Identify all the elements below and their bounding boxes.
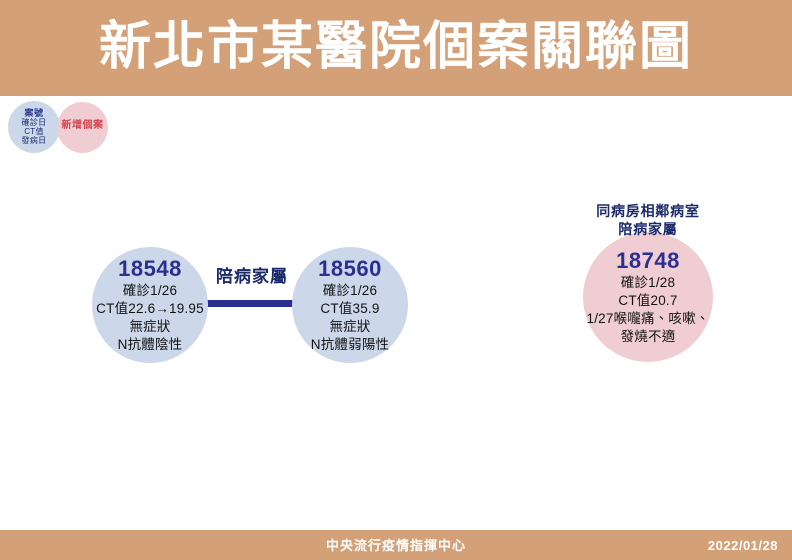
case-node-18548-id: 18548 — [118, 256, 182, 282]
case-node-18548-line-3: 無症狀 — [129, 318, 170, 336]
case-node-18560-line-2: CT值35.9 — [320, 300, 379, 318]
case-node-18548-line-2: CT值22.6→19.95 — [96, 300, 204, 318]
case-node-18748[interactable]: 18748 確診1/28 CT值20.7 1/27喉嚨痛、咳嗽、 發燒不適 — [583, 232, 713, 362]
case-node-18748-caption-line-1: 同病房相鄰病室 — [568, 202, 728, 220]
legend-case-key: 案號 — [8, 108, 60, 118]
case-node-18748-line-2: CT值20.7 — [618, 292, 677, 310]
case-node-18548-line-1: 確診1/26 — [123, 282, 177, 300]
legend: 案號 確診日 CT值 發病日 新增個案 — [8, 101, 118, 155]
infographic-poster: 新北市某醫院個案關聯圖 案號 確診日 CT值 發病日 新增個案 陪病家屬 185… — [0, 0, 792, 560]
case-node-18560-line-3: 無症狀 — [329, 318, 370, 336]
case-node-18748-line-1: 確診1/28 — [621, 274, 675, 292]
case-node-18748-line-4: 發燒不適 — [621, 328, 676, 346]
case-node-18560-id: 18560 — [318, 256, 382, 282]
case-node-18748-id: 18748 — [616, 248, 680, 274]
footer-date: 2022/01/28 — [708, 537, 778, 554]
footer-organization: 中央流行疫情指揮中心 — [0, 537, 792, 554]
edge-18548-18560 — [203, 300, 301, 307]
case-node-18560-line-4: N抗體弱陽性 — [311, 336, 389, 354]
case-node-18748-caption: 同病房相鄰病室 陪病家屬 — [568, 202, 728, 238]
legend-case-line-2: CT值 — [8, 127, 60, 136]
legend-new-case-circle: 新增個案 — [57, 102, 108, 153]
legend-case-line-1: 確診日 — [8, 118, 60, 127]
edge-label-18548-18560: 陪病家屬 — [196, 266, 308, 288]
case-relationship-graph: 陪病家屬 18548 確診1/26 CT值22.6→19.95 無症狀 N抗體陰… — [0, 160, 792, 530]
case-node-18548[interactable]: 18548 確診1/26 CT值22.6→19.95 無症狀 N抗體陰性 — [92, 247, 208, 363]
case-node-18560-line-1: 確診1/26 — [323, 282, 377, 300]
case-node-18748-caption-line-2: 陪病家屬 — [568, 220, 728, 238]
page-title: 新北市某醫院個案關聯圖 — [0, 14, 792, 80]
case-node-18560[interactable]: 18560 確診1/26 CT值35.9 無症狀 N抗體弱陽性 — [292, 247, 408, 363]
legend-new-case-label: 新增個案 — [57, 120, 108, 132]
legend-case-circle: 案號 確診日 CT值 發病日 — [8, 101, 60, 153]
case-node-18548-line-4: N抗體陰性 — [118, 336, 183, 354]
case-node-18748-line-3: 1/27喉嚨痛、咳嗽、 — [587, 310, 710, 328]
legend-case-line-3: 發病日 — [8, 136, 60, 145]
